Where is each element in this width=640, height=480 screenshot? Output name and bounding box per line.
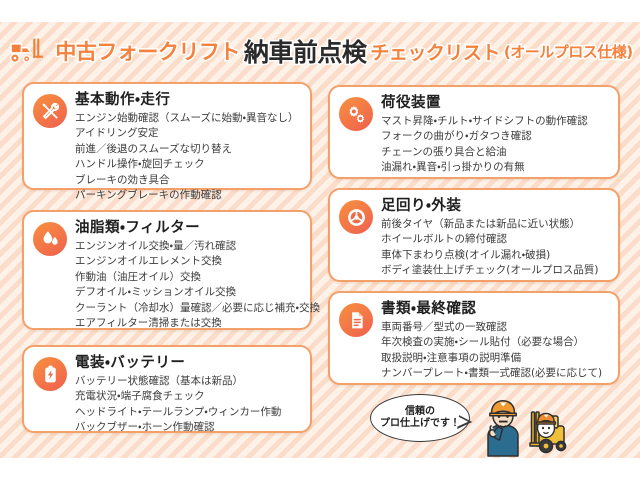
- list-item: 車体下まわり点検(オイル漏れ・破損): [381, 248, 608, 264]
- list-item: デフオイル・ミッションオイル交換: [75, 285, 300, 301]
- list-item: マスト昇降・チルト・サイドシフトの動作確認: [381, 114, 608, 130]
- list-item: エンジン始動確認（スムーズに始動・異音なし）: [75, 111, 300, 127]
- list-item: エアフィルター清掃または交換: [75, 316, 300, 332]
- checklist-items: 車両番号／型式の一致確認 年次検査の実施・シール貼付（必要な場合） 取扱説明・注…: [381, 320, 608, 382]
- speech-bubble: 信頼の プロ仕上げです！: [370, 394, 470, 442]
- speech-bubble-line2: プロ仕上げです！: [380, 418, 460, 431]
- list-item: ナンバープレート・書類一式確認(必要に応じて): [381, 366, 608, 382]
- card-title: 足回り・外装: [381, 198, 608, 215]
- worker-thumbs-up-icon: [478, 392, 570, 458]
- card-electrical-battery[interactable]: 電装・バッテリー バッテリー状態確認（基本は新品） 充電状況・端子腐食チェック …: [22, 345, 312, 433]
- tools-icon: [33, 94, 67, 128]
- mascot-area: 信頼の プロ仕上げです！: [370, 392, 570, 460]
- list-item: ブレーキの効き具合: [75, 173, 300, 189]
- card-title: 荷役装置: [381, 95, 608, 112]
- card-title: 油脂類・フィルター: [75, 220, 300, 237]
- card-title: 電装・バッテリー: [75, 355, 300, 372]
- list-item: クーラント（冷却水）量確認／必要に応じ補充・交換: [75, 301, 300, 317]
- speech-bubble-line1: 信頼の: [405, 406, 435, 419]
- oil-drop-icon: [33, 222, 67, 256]
- gears-icon: [339, 97, 373, 131]
- list-item: 車両番号／型式の一致確認: [381, 320, 608, 336]
- list-item: エンジンオイル交換・量／汚れ確認: [75, 239, 300, 255]
- list-item: 取扱説明・注意事項の説明準備: [381, 351, 608, 367]
- list-item: エンジンオイルエレメント交換: [75, 254, 300, 270]
- speech-bubble-tail-inner: [456, 416, 468, 428]
- list-item: アイドリング安定: [75, 126, 300, 142]
- checklist-items: エンジン始動確認（スムーズに始動・異音なし） アイドリング安定 前進／後退のスム…: [75, 111, 300, 204]
- page-title: 中古フォークリフト 納車前点検 チェックリスト (オールプロス仕様): [0, 34, 640, 68]
- title-segment-checklist: チェックリスト: [370, 38, 500, 65]
- list-item: ボディ塗装仕上げチェック(オールプロス品質): [381, 263, 608, 279]
- list-item: ハンドル操作・旋回チェック: [75, 157, 300, 173]
- title-segment-used-forklift: 中古フォークリフト: [55, 36, 240, 66]
- checklist-items: 前後タイヤ（新品または新品に近い状態） ホイールボルトの締付確認 車体下まわり点…: [381, 217, 608, 279]
- list-item: 充電状況・端子腐食チェック: [75, 389, 300, 405]
- infographic-canvas: 中古フォークリフト 納車前点検 チェックリスト (オールプロス仕様) 基本動作・…: [0, 0, 640, 480]
- list-item: ヘッドライト・テールランプ・ウィンカー作動: [75, 405, 300, 421]
- card-documents-final-check[interactable]: 書類・最終確認 車両番号／型式の一致確認 年次検査の実施・シール貼付（必要な場合…: [328, 291, 620, 385]
- list-item: 年次検査の実施・シール貼付（必要な場合）: [381, 335, 608, 351]
- tire-icon: [339, 200, 373, 234]
- list-item: パーキングブレーキの作動確認: [75, 188, 300, 204]
- card-basic-operation[interactable]: 基本動作・走行 エンジン始動確認（スムーズに始動・異音なし） アイドリング安定 …: [22, 82, 312, 190]
- list-item: 前後タイヤ（新品または新品に近い状態）: [381, 217, 608, 233]
- list-item: バッテリー状態確認（基本は新品）: [75, 374, 300, 390]
- list-item: チェーンの張り具合と給油: [381, 145, 608, 161]
- list-item: バックブザー・ホーン作動確認: [75, 420, 300, 436]
- checklist-items: バッテリー状態確認（基本は新品） 充電状況・端子腐食チェック ヘッドライト・テー…: [75, 374, 300, 436]
- card-title: 書類・最終確認: [381, 301, 608, 318]
- card-oils-filters[interactable]: 油脂類・フィルター エンジンオイル交換・量／汚れ確認 エンジンオイルエレメント交…: [22, 210, 312, 330]
- card-load-handling[interactable]: 荷役装置 マスト昇降・チルト・サイドシフトの動作確認 フォークの曲がり・ガタつき…: [328, 85, 620, 179]
- list-item: 前進／後退のスムーズな切り替え: [75, 142, 300, 158]
- list-item: フォークの曲がり・ガタつき確認: [381, 129, 608, 145]
- title-segment-predelivery: 納車前点検: [244, 33, 367, 69]
- battery-icon: [33, 357, 67, 391]
- document-icon: [339, 303, 373, 337]
- forklift-icon: [7, 36, 49, 66]
- card-title: 基本動作・走行: [75, 92, 300, 109]
- title-segment-brand-spec: (オールプロス仕様): [504, 41, 633, 62]
- card-undercarriage-body[interactable]: 足回り・外装 前後タイヤ（新品または新品に近い状態） ホイールボルトの締付確認 …: [328, 188, 620, 282]
- checklist-items: エンジンオイル交換・量／汚れ確認 エンジンオイルエレメント交換 作動油（油圧オイ…: [75, 239, 300, 332]
- list-item: 油漏れ・異音・引っ掛かりの有無: [381, 160, 608, 176]
- checklist-items: マスト昇降・チルト・サイドシフトの動作確認 フォークの曲がり・ガタつき確認 チェ…: [381, 114, 608, 176]
- list-item: 作動油（油圧オイル）交換: [75, 270, 300, 286]
- list-item: ホイールボルトの締付確認: [381, 232, 608, 248]
